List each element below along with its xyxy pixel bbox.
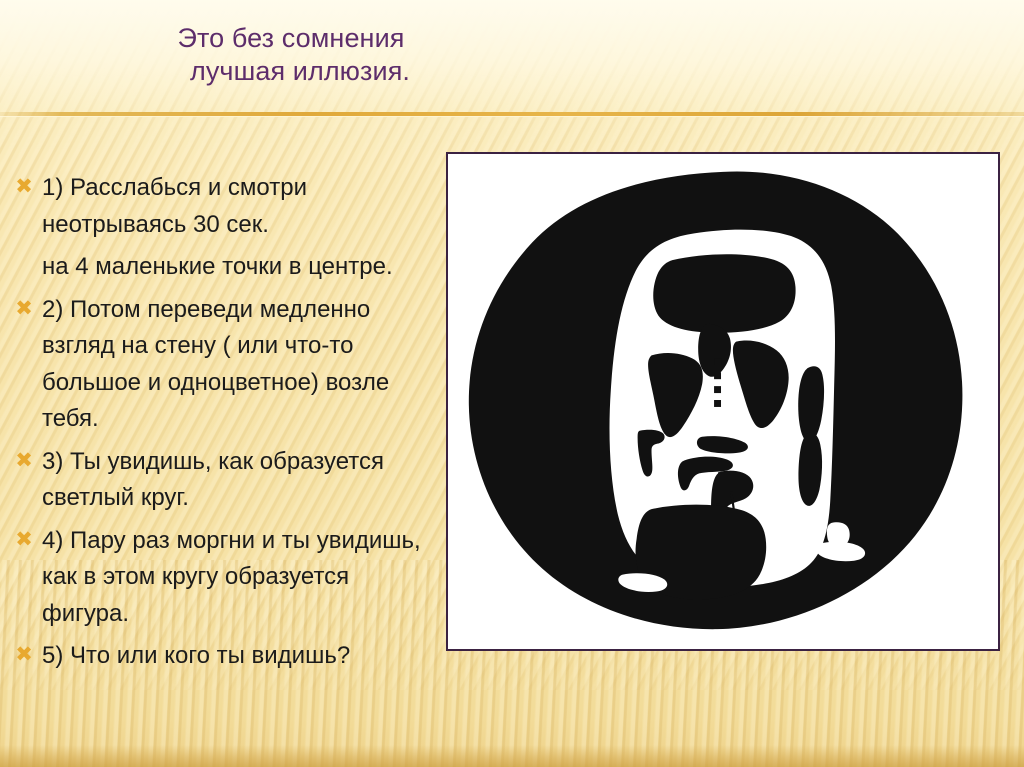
- list-item: ✖ 2) Потом переведи медленно взгляд на с…: [8, 292, 440, 438]
- illusion-image: [448, 154, 998, 649]
- list-item-text: 2) Потом переведи медленно взгляд на сте…: [42, 296, 389, 433]
- list-item-text: 3) Ты увидишь, как образуется светлый кр…: [42, 448, 384, 512]
- bullet-cross-icon: ✖: [14, 177, 34, 197]
- title-line-1: Это без сомнения: [56, 22, 526, 55]
- list-item: ✖ 4) Пару раз моргни и ты увидишь, как в…: [8, 523, 440, 633]
- list-item-text: 4) Пару раз моргни и ты увидишь, как в э…: [42, 527, 421, 627]
- title-line-2: лучшая иллюзия.: [56, 55, 526, 88]
- illusion-image-frame: [446, 152, 1000, 651]
- list-item-text: 1) Расслабься и смотри неотрываясь 30 се…: [42, 174, 307, 238]
- title-divider: [0, 112, 1024, 116]
- presentation-slide: Это без сомнения лучшая иллюзия. ✖ 1) Ра…: [0, 0, 1024, 767]
- list-item-text: 5) Что или кого ты видишь?: [42, 642, 350, 669]
- list-item-subtext: на 4 маленькие точки в центре.: [8, 249, 440, 286]
- bullet-cross-icon: ✖: [14, 451, 34, 471]
- slide-title: Это без сомнения лучшая иллюзия.: [56, 22, 526, 88]
- list-item: ✖ 3) Ты увидишь, как образуется светлый …: [8, 444, 440, 517]
- list-item: ✖ 1) Расслабься и смотри неотрываясь 30 …: [8, 170, 440, 243]
- illusion-artwork: [448, 154, 998, 649]
- list-item: ✖ 5) Что или кого ты видишь?: [8, 638, 440, 675]
- bullet-cross-icon: ✖: [14, 299, 34, 319]
- bullet-cross-icon: ✖: [14, 530, 34, 550]
- bullet-cross-icon: ✖: [14, 645, 34, 665]
- background-bottom-band: [0, 745, 1024, 767]
- instruction-list: ✖ 1) Расслабься и смотри неотрываясь 30 …: [8, 170, 440, 675]
